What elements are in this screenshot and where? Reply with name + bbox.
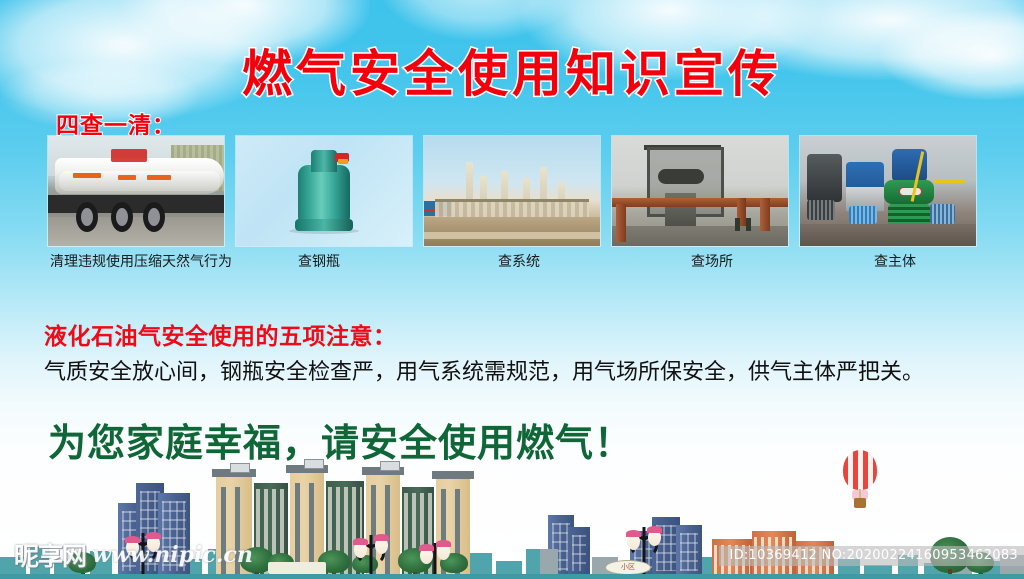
photo-rust-pipe [616,204,626,241]
photo-worker [746,218,751,231]
lamp-shade [353,538,368,545]
site-watermark: 昵享网 www.nipic.cn [14,537,253,573]
apartment-roof-box [380,461,400,471]
tower-windows [572,535,586,571]
apartment-roof-box [304,459,324,469]
photo-gas-processing-plant [424,136,600,246]
blue-tower [676,525,702,579]
gas-safety-poster: 燃气安全使用知识宣传 四查一清： [0,0,1024,579]
photo-wheel [143,202,165,232]
ground-strip [0,574,1024,579]
photo-orange-stripe [118,175,136,180]
photo-caption-4: 查场所 [691,252,733,272]
apartment-roof-box [230,463,250,473]
photo-cylinder-body [298,165,350,223]
photo-plant-deck [435,200,590,218]
photo-caption-1: 清理违规使用压缩天然气行为 [50,252,240,272]
photo-vessel [658,169,704,184]
section-two-body-text: 气质安全放心间，钢瓶安全检查严，用气系统需规范，用气场所保安全，供气主体严把关。 [44,354,1010,386]
blue-tower [568,527,590,579]
poster-title: 燃气安全使用知识宣传 [0,34,1024,106]
photo-caption-3: 查系统 [498,252,540,272]
residential-area-sign: 小区 [605,560,651,575]
street-lamp [354,535,388,579]
photo-cng-tanker-truck [48,136,224,246]
photo-worker [735,218,740,231]
photo-lpg-gas-cylinder [236,136,412,246]
photo-trailer-chassis [48,195,224,213]
photo-wheel-hub [148,208,160,226]
watermark-url-text: www.nipic.cn [92,542,253,568]
section-two-heading: 液化石油气安全使用的五项注意： [44,317,397,351]
photo-plant-beam [435,199,590,202]
photo-cylinder-regulator [338,159,348,164]
photo-rust-pipe [760,198,770,231]
photo-orange-stripe [73,173,101,178]
photo-wheel-hub [116,208,128,226]
photo-path [424,232,600,240]
foreground-structure [268,562,326,574]
lamp-shade [647,526,662,533]
tower-windows [680,533,698,571]
lamp-shade [374,534,389,541]
photo-cylinder-base [295,219,353,231]
photo-caption-5: 查主体 [874,252,916,272]
photo-wheel [76,202,98,232]
photo-captions: 清理违规使用压缩天然气行为 查钢瓶 查系统 查场所 查主体 [48,252,976,298]
lamp-shade [626,530,641,537]
image-id-strip: ID:10369412 NO:20200224160953462083 [719,546,1024,566]
photo-pump-label [899,187,922,197]
section-one-heading: 四查一清： [56,106,176,140]
watermark-logo-text: 昵享网 [14,537,86,573]
photo-caption-2: 查钢瓶 [298,252,340,272]
photo-strip [48,136,976,246]
photo-cylinder-collar [311,150,337,172]
photo-industrial-site [612,136,788,246]
photo-pump-strainer [807,200,835,220]
photo-orange-stripe [147,175,172,180]
photo-wheel-hub [81,208,93,226]
photo-red-label [111,149,146,162]
photo-road [48,217,224,246]
photo-yellow-cable [934,180,966,183]
photo-floor [800,224,976,246]
apartment-roof [432,471,474,479]
photo-submersible-pumps [800,136,976,246]
photo-pump-strainer [849,206,877,224]
lamp-shade [436,540,451,547]
photo-pump-dark [807,154,842,202]
lamp-shade [419,544,434,551]
photo-pump-strainer [930,204,955,224]
